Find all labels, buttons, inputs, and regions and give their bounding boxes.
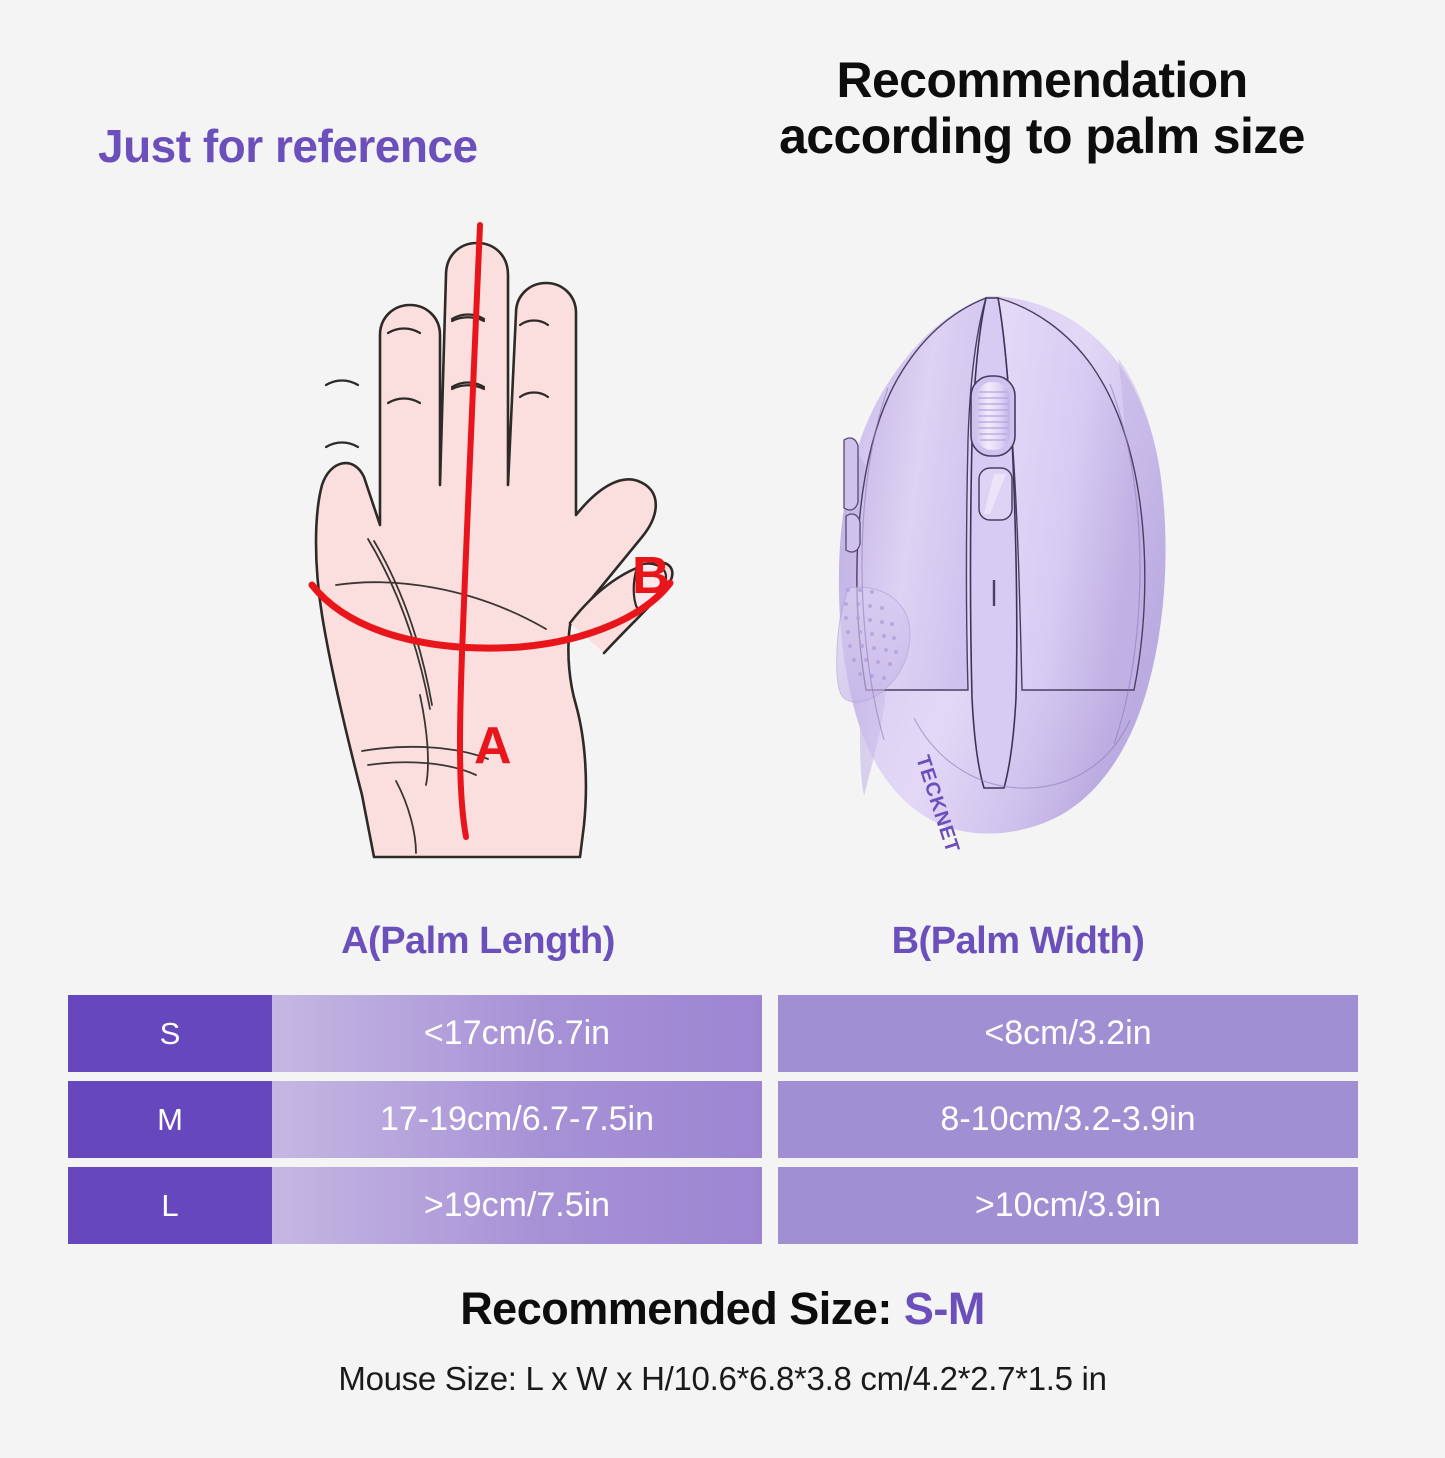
table-column-headers: A(Palm Length) B(Palm Width) [68,920,1358,980]
mouse-illustration-svg: TECKNET [818,288,1188,858]
side-button-forward[interactable] [844,438,858,510]
size-badge-l: L [68,1167,272,1244]
recommended-size-line: Recommended Size: S-M [0,1283,1445,1335]
hand-label-b: B [632,546,670,606]
size-badge-s: S [68,995,272,1072]
palm-length-value-m: 17-19cm/6.7-7.5in [272,1081,762,1158]
table-row: L >19cm/7.5in >10cm/3.9in [68,1167,1358,1244]
column-header-palm-length: A(Palm Length) [268,920,688,963]
table-column-gap [762,995,778,1072]
page-title: Recommendation according to palm size [672,52,1412,164]
page-title-line2: according to palm size [672,108,1412,164]
side-button-back[interactable] [846,514,860,552]
mouse-product-image: TECKNET [818,288,1188,858]
palm-width-value-s: <8cm/3.2in [778,995,1358,1072]
palm-width-value-l: >10cm/3.9in [778,1167,1358,1244]
hand-label-a: A [474,716,512,776]
palm-length-value-l: >19cm/7.5in [272,1167,762,1244]
table-column-gap [762,1167,778,1244]
table-row: M 17-19cm/6.7-7.5in 8-10cm/3.2-3.9in [68,1081,1358,1158]
palm-length-value-s: <17cm/6.7in [272,995,762,1072]
table-row: S <17cm/6.7in <8cm/3.2in [68,995,1358,1072]
reference-heading: Just for reference [98,119,478,173]
column-header-palm-width: B(Palm Width) [808,920,1228,963]
size-table: S <17cm/6.7in <8cm/3.2in M 17-19cm/6.7-7… [68,995,1358,1253]
page-title-line1: Recommendation [672,52,1412,108]
recommended-size-label: Recommended Size: [460,1283,904,1334]
table-column-gap [762,1081,778,1158]
mouse-right-button[interactable] [998,298,1145,690]
mouse-dimensions-line: Mouse Size: L x W x H/10.6*6.8*3.8 cm/4.… [0,1360,1445,1398]
recommended-size-value: S-M [904,1283,985,1334]
size-guide-page: Just for reference Recommendation accord… [0,0,1445,1458]
palm-width-value-m: 8-10cm/3.2-3.9in [778,1081,1358,1158]
size-badge-m: M [68,1081,272,1158]
